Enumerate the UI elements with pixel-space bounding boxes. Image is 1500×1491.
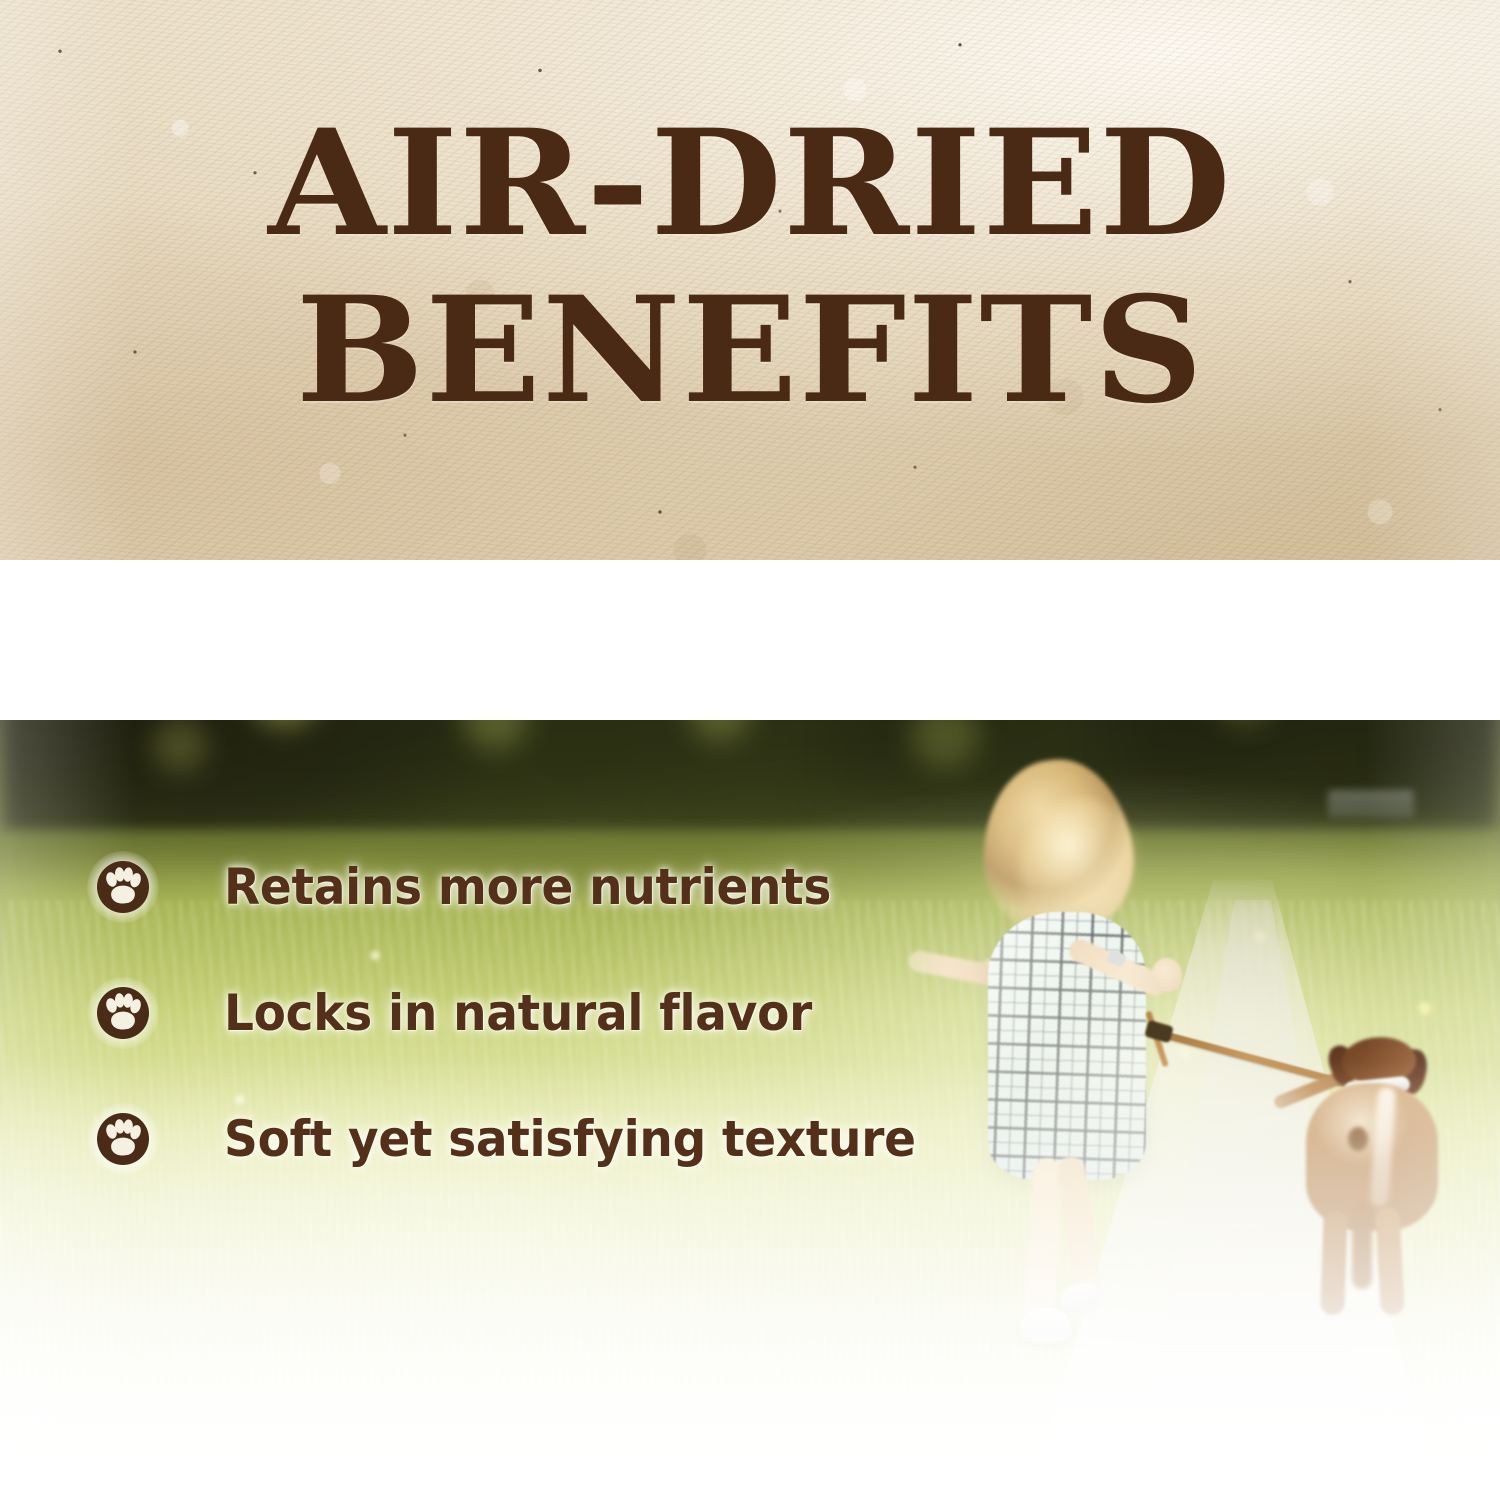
paw-print-glyph <box>96 1112 150 1166</box>
benefit-label: Soft yet satisfying texture <box>224 1110 916 1168</box>
dog-body <box>1306 1083 1438 1231</box>
dog-left-leg <box>1320 1211 1348 1316</box>
distant-structure <box>1328 790 1414 818</box>
list-item: Locks in natural flavor <box>96 978 1096 1048</box>
dog-rear-leg <box>1352 1203 1372 1289</box>
page-title: AIR-DRIED BENEFITS <box>0 112 1500 422</box>
paw-print-icon <box>96 860 150 914</box>
dog-figure <box>1270 1035 1480 1335</box>
benefit-label: Locks in natural flavor <box>224 984 812 1042</box>
woman-left-leg <box>1022 1157 1064 1329</box>
dog-hindquarters-shadow <box>1348 1127 1368 1151</box>
benefit-label: Retains more nutrients <box>224 858 831 916</box>
paw-print-icon <box>96 986 150 1040</box>
paw-print-icon <box>96 1112 150 1166</box>
headline-line-2: BENEFITS <box>0 279 1500 422</box>
list-item: Retains more nutrients <box>96 852 1096 922</box>
air-dried-benefits-poster: AIR-DRIED BENEFITS <box>0 0 1500 1491</box>
paw-print-glyph <box>96 986 150 1040</box>
woman-left-shoe <box>1020 1308 1072 1342</box>
headline-line-1: AIR-DRIED <box>0 112 1500 255</box>
list-item: Soft yet satisfying texture <box>96 1104 1096 1174</box>
benefits-list: Retains more nutrients Locks in natural … <box>96 852 1096 1174</box>
woman-hand <box>1152 958 1182 992</box>
paw-print-glyph <box>96 860 150 914</box>
